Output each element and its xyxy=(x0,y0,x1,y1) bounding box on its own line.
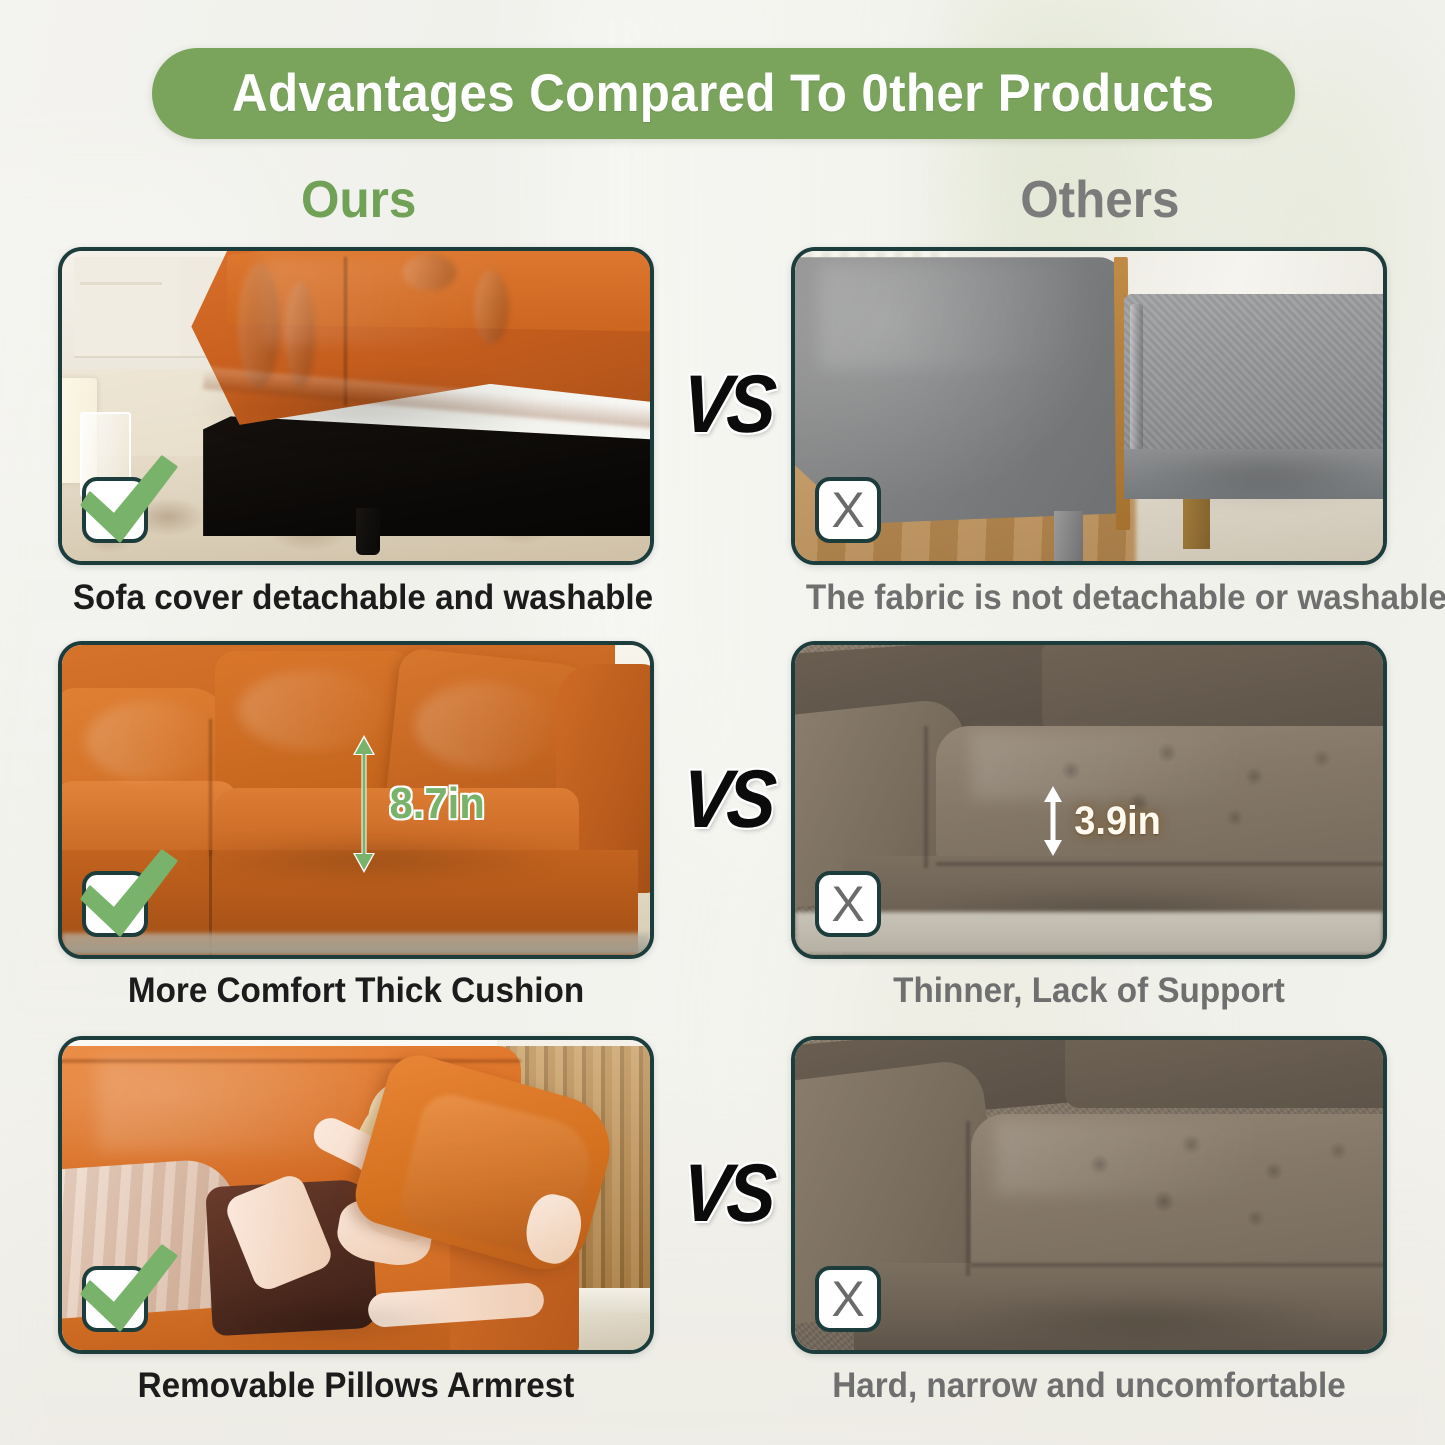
page-title: Advantages Compared To 0ther Products xyxy=(232,63,1214,124)
check-badge xyxy=(82,871,148,937)
photo-orange-slipcover-base xyxy=(62,251,650,561)
column-header-others: Others xyxy=(1020,170,1179,230)
x-badge: X xyxy=(815,1266,881,1332)
check-badge xyxy=(82,477,148,543)
dimension-label-ours: 8.7in xyxy=(390,782,485,826)
photo-woman-pillow-armrest xyxy=(62,1040,650,1350)
caption-ours-row2: More Comfort Thick Cushion xyxy=(73,971,639,1011)
check-badge xyxy=(82,1266,148,1332)
x-badge: X xyxy=(815,871,881,937)
double-arrow-icon xyxy=(1042,785,1064,857)
panel-ours-row3[interactable] xyxy=(58,1036,654,1354)
title-banner: Advantages Compared To 0ther Products xyxy=(152,48,1295,139)
x-badge: X xyxy=(815,477,881,543)
caption-others-row3: Hard, narrow and uncomfortable xyxy=(806,1366,1372,1406)
panel-ours-row1[interactable] xyxy=(58,247,654,565)
panel-others-row2[interactable]: X 3.9in xyxy=(791,641,1387,959)
panel-others-row3[interactable]: X xyxy=(791,1036,1387,1354)
vs-badge-row1: VS xyxy=(674,362,779,448)
caption-ours-row3: Removable Pillows Armrest xyxy=(73,1366,639,1406)
column-header-ours: Ours xyxy=(301,170,416,230)
dimension-annotation-ours: 8.7in xyxy=(351,733,487,875)
caption-others-row1: The fabric is not detachable or washable xyxy=(806,578,1372,618)
caption-ours-row1: Sofa cover detachable and washable xyxy=(73,578,639,618)
dimension-annotation-others: 3.9in xyxy=(1042,785,1163,857)
vs-badge-row2: VS xyxy=(674,757,779,843)
infographic-canvas: Advantages Compared To 0ther Products Ou… xyxy=(0,0,1445,1445)
dimension-label-others: 3.9in xyxy=(1074,801,1161,841)
photo-gray-sofa-base xyxy=(795,251,1383,561)
panel-others-row1[interactable]: X xyxy=(791,247,1387,565)
double-arrow-icon xyxy=(351,733,377,875)
vs-badge-row3: VS xyxy=(674,1151,779,1237)
photo-brown-hard-armrest xyxy=(795,1040,1383,1350)
panel-ours-row2[interactable]: 8.7in xyxy=(58,641,654,959)
caption-others-row2: Thinner, Lack of Support xyxy=(806,971,1372,1011)
